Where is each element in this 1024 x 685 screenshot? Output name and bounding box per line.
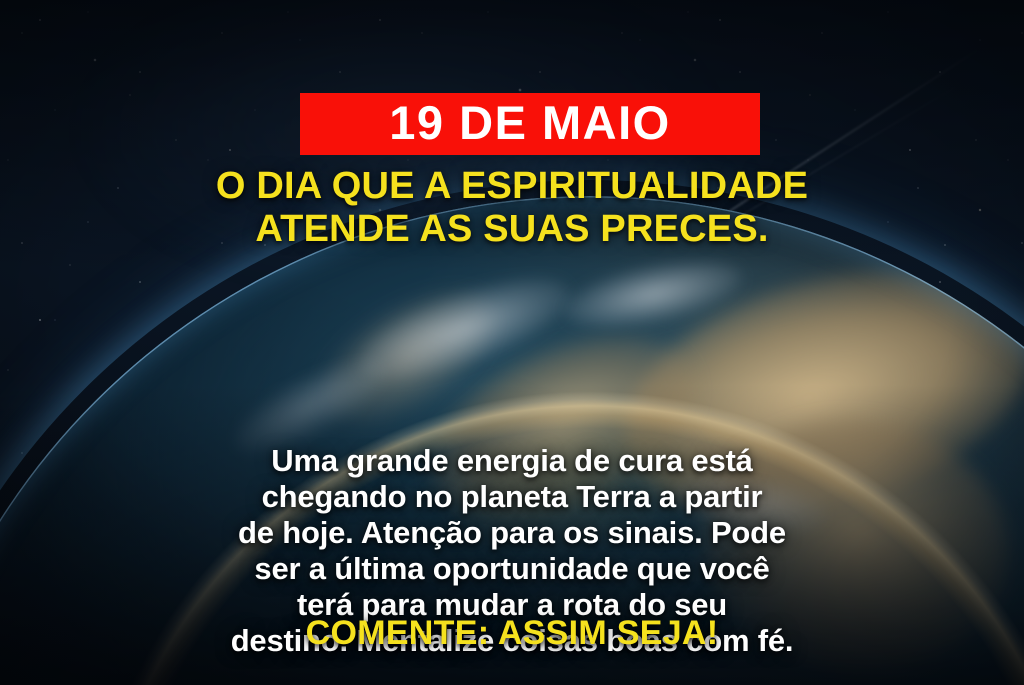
poster-canvas: 19 DE MAIO O DIA QUE A ESPIRITUALIDADE A… xyxy=(0,0,1024,685)
headline-line-2: ATENDE AS SUAS PRECES. xyxy=(0,208,1024,251)
body-line-2: chegando no planeta Terra a partir xyxy=(62,479,962,515)
headline-line-1: O DIA QUE A ESPIRITUALIDADE xyxy=(0,165,1024,208)
body-line-3: de hoje. Atenção para os sinais. Pode xyxy=(62,515,962,551)
call-to-action: COMENTE: ASSIM SEJA! xyxy=(0,614,1024,653)
poster-content: 19 DE MAIO O DIA QUE A ESPIRITUALIDADE A… xyxy=(0,0,1024,685)
headline: O DIA QUE A ESPIRITUALIDADE ATENDE AS SU… xyxy=(0,165,1024,250)
call-to-action-label: COMENTE: ASSIM SEJA! xyxy=(306,614,719,652)
date-banner: 19 DE MAIO xyxy=(300,93,760,155)
date-banner-label: 19 DE MAIO xyxy=(389,99,670,149)
body-line-1: Uma grande energia de cura está xyxy=(62,443,962,479)
body-line-4: ser a última oportunidade que você xyxy=(62,551,962,587)
